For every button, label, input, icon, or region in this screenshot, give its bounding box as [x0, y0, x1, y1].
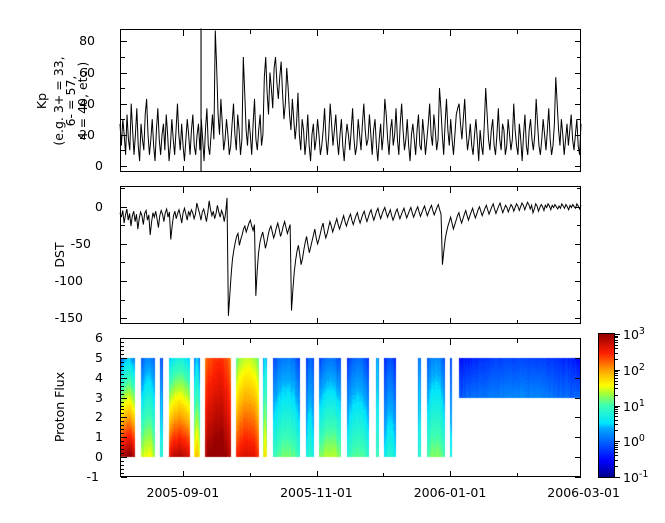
- tick-mark: [121, 244, 127, 245]
- tick-mark: [450, 318, 451, 324]
- tick-mark: [383, 339, 384, 343]
- tick-mark: [121, 318, 127, 319]
- tick-mark: [121, 433, 124, 434]
- tick-mark: [121, 406, 124, 407]
- tick-mark: [614, 371, 618, 372]
- tick-mark: [317, 339, 318, 345]
- tick-mark: [121, 425, 124, 426]
- tick-mark: [317, 30, 318, 36]
- colorbar-tick-label: 101: [623, 399, 645, 414]
- tick-mark: [614, 452, 618, 453]
- tick-mark: [121, 465, 124, 466]
- tick-mark: [614, 430, 618, 431]
- tick-mark: [121, 390, 124, 391]
- tick-mark: [121, 398, 127, 399]
- tick-mark: [614, 359, 618, 360]
- tick-mark: [121, 300, 125, 301]
- tick-mark: [121, 281, 127, 282]
- tick-mark: [614, 395, 618, 396]
- tick-mark: [575, 457, 581, 458]
- tick-mark: [121, 413, 124, 414]
- tick-mark: [121, 409, 124, 410]
- kp-y-tick-label: 0: [95, 160, 103, 173]
- tick-mark: [121, 73, 127, 74]
- tick-mark: [121, 188, 125, 189]
- tick-mark: [121, 402, 124, 403]
- tick-mark: [121, 382, 124, 383]
- tick-mark: [183, 339, 184, 345]
- flux-y-tick-label: -1: [87, 471, 99, 484]
- tick-mark: [575, 358, 581, 359]
- tick-mark: [121, 457, 127, 458]
- tick-mark: [317, 318, 318, 324]
- flux-y-tick-label: 4: [95, 372, 103, 385]
- tick-mark: [614, 388, 618, 389]
- colorbar: [598, 333, 615, 478]
- tick-mark: [517, 339, 518, 343]
- tick-mark: [517, 473, 518, 477]
- tick-mark: [121, 150, 125, 151]
- tick-mark: [614, 373, 618, 374]
- tick-mark: [614, 420, 618, 421]
- tick-mark: [121, 386, 124, 387]
- tick-mark: [121, 453, 124, 454]
- tick-mark: [121, 417, 127, 418]
- tick-mark: [317, 166, 318, 172]
- dst-y-tick-label: 0: [95, 201, 103, 214]
- tick-mark: [577, 88, 581, 89]
- tick-mark: [614, 340, 618, 341]
- kp-axis-note-line3: 4 = 40, etc.): [76, 16, 90, 186]
- tick-mark: [614, 443, 618, 444]
- tick-mark: [250, 339, 251, 343]
- tick-mark: [614, 384, 618, 385]
- kp-axis-title-main: Kp: [35, 16, 49, 186]
- kp-axis-note-3: 4 = 40, etc.): [76, 16, 90, 186]
- tick-mark: [575, 437, 581, 438]
- flux-y-tick-label: 1: [95, 431, 103, 444]
- tick-mark: [121, 338, 127, 339]
- tick-mark: [614, 455, 618, 456]
- x-axis-tick-label: 2005-09-01: [147, 487, 220, 500]
- tick-mark: [121, 378, 127, 379]
- tick-mark: [121, 477, 127, 478]
- kp-axis-title: Kp: [35, 16, 49, 186]
- tick-mark: [577, 150, 581, 151]
- tick-mark: [450, 187, 451, 193]
- tick-mark: [575, 378, 581, 379]
- tick-mark: [614, 345, 618, 346]
- tick-mark: [121, 135, 127, 136]
- tick-mark: [383, 168, 384, 172]
- tick-mark: [614, 477, 620, 478]
- tick-mark: [317, 471, 318, 477]
- tick-mark: [121, 449, 124, 450]
- tick-mark: [121, 225, 125, 226]
- tick-mark: [614, 336, 618, 337]
- tick-mark: [121, 342, 124, 343]
- tick-mark: [575, 338, 581, 339]
- tick-mark: [121, 354, 124, 355]
- tick-mark: [317, 187, 318, 193]
- tick-mark: [121, 441, 124, 442]
- tick-mark: [575, 41, 581, 42]
- tick-mark: [183, 471, 184, 477]
- tick-mark: [121, 394, 124, 395]
- tick-mark: [121, 207, 127, 208]
- tick-mark: [614, 441, 620, 442]
- proton-flux-image: [121, 339, 580, 476]
- dst-panel: [120, 186, 581, 324]
- dst-axis-title: DST: [53, 225, 67, 285]
- proton-flux-spectrogram: [121, 339, 580, 476]
- tick-mark: [121, 57, 125, 58]
- tick-mark: [183, 30, 184, 36]
- tick-mark: [250, 473, 251, 477]
- tick-mark: [614, 409, 618, 410]
- tick-mark: [614, 353, 618, 354]
- tick-mark: [383, 187, 384, 191]
- tick-mark: [575, 398, 581, 399]
- tick-mark: [614, 342, 618, 343]
- tick-mark: [121, 374, 124, 375]
- figure-canvas: 020406080 Kp (e.g. 3+ = 33, 6- = 57, 4 =…: [0, 0, 665, 523]
- tick-mark: [450, 339, 451, 345]
- flux-axis-title: Proton Flux: [53, 352, 67, 462]
- tick-mark: [121, 346, 124, 347]
- tick-mark: [121, 473, 124, 474]
- kp-panel: [120, 29, 581, 172]
- tick-mark: [121, 469, 124, 470]
- flux-y-tick-label: 6: [95, 332, 103, 345]
- tick-mark: [450, 30, 451, 36]
- tick-mark: [577, 300, 581, 301]
- tick-mark: [614, 413, 618, 414]
- tick-mark: [575, 244, 581, 245]
- tick-mark: [383, 473, 384, 477]
- colorbar-tick-label: 103: [623, 327, 645, 342]
- tick-mark: [517, 187, 518, 191]
- x-axis-tick-label: 2005-11-01: [280, 487, 353, 500]
- tick-mark: [121, 362, 124, 363]
- proton-flux-panel: [120, 338, 581, 477]
- tick-mark: [614, 378, 618, 379]
- tick-mark: [121, 461, 124, 462]
- tick-mark: [121, 88, 125, 89]
- tick-mark: [121, 41, 127, 42]
- tick-mark: [183, 166, 184, 172]
- tick-mark: [575, 104, 581, 105]
- tick-mark: [121, 437, 127, 438]
- tick-mark: [577, 262, 581, 263]
- tick-mark: [614, 337, 618, 338]
- dst-y-tick-label: -150: [55, 312, 83, 325]
- tick-mark: [121, 350, 124, 351]
- tick-mark: [517, 320, 518, 324]
- colorbar-tick-label: 102: [623, 363, 645, 378]
- tick-mark: [614, 348, 618, 349]
- tick-mark: [450, 166, 451, 172]
- tick-mark: [614, 416, 618, 417]
- tick-mark: [614, 449, 618, 450]
- tick-mark: [383, 320, 384, 324]
- tick-mark: [121, 421, 124, 422]
- tick-mark: [517, 30, 518, 34]
- x-axis-tick-label: 2006-03-01: [547, 487, 620, 500]
- tick-mark: [614, 407, 618, 408]
- flux-axis-title-label: Proton Flux: [53, 352, 67, 462]
- dst-axis-title-label: DST: [53, 225, 67, 285]
- tick-mark: [575, 207, 581, 208]
- tick-mark: [250, 320, 251, 324]
- dst-y-tick-label: -50: [71, 238, 91, 251]
- tick-mark: [121, 119, 125, 120]
- tick-mark: [383, 30, 384, 34]
- flux-y-tick-label: 2: [95, 411, 103, 424]
- tick-mark: [614, 447, 618, 448]
- tick-mark: [614, 466, 618, 467]
- tick-mark: [575, 135, 581, 136]
- tick-mark: [121, 104, 127, 105]
- tick-mark: [121, 445, 124, 446]
- flux-y-tick-label: 5: [95, 352, 103, 365]
- tick-mark: [250, 168, 251, 172]
- tick-mark: [121, 429, 124, 430]
- tick-mark: [575, 417, 581, 418]
- tick-mark: [250, 187, 251, 191]
- tick-mark: [577, 225, 581, 226]
- tick-mark: [614, 460, 618, 461]
- x-axis-tick-label: 2006-01-01: [414, 487, 487, 500]
- colorbar-tick-label: 10-1: [623, 470, 648, 485]
- tick-mark: [121, 262, 125, 263]
- tick-mark: [575, 318, 581, 319]
- tick-mark: [577, 188, 581, 189]
- tick-mark: [121, 166, 127, 167]
- tick-mark: [577, 119, 581, 120]
- tick-mark: [614, 375, 618, 376]
- tick-mark: [575, 281, 581, 282]
- flux-y-tick-label: 3: [95, 392, 103, 405]
- tick-mark: [575, 477, 581, 478]
- tick-mark: [577, 57, 581, 58]
- tick-mark: [614, 381, 618, 382]
- tick-mark: [250, 30, 251, 34]
- tick-mark: [517, 168, 518, 172]
- tick-mark: [614, 424, 618, 425]
- tick-mark: [614, 334, 620, 335]
- tick-mark: [450, 471, 451, 477]
- tick-mark: [614, 411, 618, 412]
- tick-mark: [121, 370, 124, 371]
- tick-mark: [575, 166, 581, 167]
- tick-mark: [614, 445, 618, 446]
- tick-mark: [121, 358, 127, 359]
- tick-mark: [575, 73, 581, 74]
- tick-mark: [183, 318, 184, 324]
- colorbar-tick-label: 100: [623, 434, 645, 449]
- colorbar-gradient: [599, 334, 614, 477]
- flux-y-tick-label: 0: [95, 451, 103, 464]
- tick-mark: [183, 187, 184, 193]
- tick-mark: [121, 366, 124, 367]
